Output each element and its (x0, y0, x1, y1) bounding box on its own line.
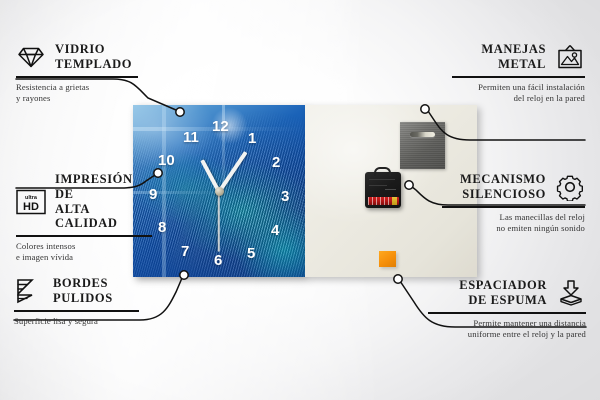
clock-numeral-10: 10 (158, 153, 175, 168)
clock-numeral-6: 6 (214, 253, 222, 268)
callout-rule (442, 206, 585, 208)
foam-spacer (379, 251, 396, 267)
infographic-canvas: 12 1 2 3 4 5 6 7 8 9 10 11 (0, 0, 600, 400)
clock-numeral-12: 12 (212, 119, 229, 134)
callout-vidrio-templado[interactable]: VIDRIO TEMPLADO Resistencia a grietas y … (16, 42, 138, 105)
ultra-hd-icon-main: HD (23, 201, 39, 213)
metal-hanger-plate (400, 122, 445, 169)
callout-rule (14, 310, 139, 312)
callout-description: Las manecillas del reloj no emiten ningú… (442, 212, 585, 235)
callout-rule (428, 312, 586, 314)
callout-manejas-metal[interactable]: MANEJAS METAL Permiten una fácil instala… (452, 42, 585, 105)
callout-title-line2: PULIDOS (53, 291, 113, 305)
clock-numeral-4: 4 (271, 223, 279, 238)
product-clock-front: 12 1 2 3 4 5 6 7 8 9 10 11 (133, 105, 305, 277)
polished-edges-icon (14, 276, 44, 306)
callout-title-line1: VIDRIO (55, 42, 105, 56)
callout-mecanismo-silencioso[interactable]: MECANISMO SILENCIOSO Las manecillas del … (442, 172, 585, 235)
hanger-keyhole-slot (410, 132, 435, 137)
mechanism-detail-line-3 (385, 189, 396, 190)
clock-numeral-5: 5 (247, 246, 255, 261)
mechanism-hanging-loop (374, 167, 391, 176)
callout-title-line2: ALTA CALIDAD (55, 202, 118, 231)
callout-desc-line2: y rayones (16, 93, 51, 103)
gear-icon (555, 172, 585, 202)
callout-head: MANEJAS METAL (452, 42, 585, 72)
callout-title-line1: BORDES (53, 276, 108, 290)
callout-title-line1: IMPRESIÓN DE (55, 172, 133, 201)
mechanism-detail-line-2 (369, 185, 387, 186)
clock-numeral-7: 7 (181, 244, 189, 259)
clock-numeral-1: 1 (248, 131, 256, 146)
battery-terminal (392, 197, 397, 205)
callout-description: Resistencia a grietas y rayones (16, 82, 138, 105)
callout-head: ultra HD IMPRESIÓN DE ALTA CALIDAD (16, 172, 152, 231)
callout-title-line1: MECANISMO (460, 172, 546, 186)
callout-desc-line2: no emiten ningún sonido (496, 223, 585, 233)
callout-head: MECANISMO SILENCIOSO (442, 172, 585, 202)
callout-desc-line1: Superficie lisa y segura (14, 316, 98, 326)
callout-title-line2: METAL (498, 57, 546, 71)
callout-desc-line1: Las manecillas del reloj (500, 212, 585, 222)
callout-impresion-alta-calidad[interactable]: ultra HD IMPRESIÓN DE ALTA CALIDAD Color… (16, 172, 152, 264)
clock-numeral-11: 11 (183, 130, 199, 145)
callout-desc-line2: e imagen vívida (16, 252, 73, 262)
callout-description: Permiten una fácil instalación del reloj… (452, 82, 585, 105)
callout-title-line2: DE ESPUMA (468, 293, 547, 307)
callout-title: MANEJAS METAL (481, 42, 546, 72)
foam-spacer-icon (556, 278, 586, 308)
callout-espaciador-espuma[interactable]: ESPACIADOR DE ESPUMA Permite mantener un… (428, 278, 586, 341)
callout-rule (16, 76, 138, 78)
hanging-frame-icon (555, 42, 585, 72)
clock-center-cap (215, 187, 224, 196)
hanger-texture (400, 122, 445, 169)
callout-rule (16, 235, 152, 237)
mechanism-detail-line-1 (369, 179, 395, 180)
clock-second-hand (218, 192, 220, 252)
callout-desc-line1: Permite mantener una distancia (473, 318, 586, 328)
callout-title: IMPRESIÓN DE ALTA CALIDAD (55, 172, 152, 231)
callout-desc-line1: Colores intensos (16, 241, 75, 251)
callout-title: MECANISMO SILENCIOSO (460, 172, 546, 202)
ultra-hd-icon: ultra HD (16, 187, 46, 217)
callout-desc-line2: del reloj en la pared (514, 93, 585, 103)
callout-head: BORDES PULIDOS (14, 276, 139, 306)
callout-bordes-pulidos[interactable]: BORDES PULIDOS Superficie lisa y segura (14, 276, 139, 327)
callout-desc-line2: uniforme entre el reloj y la pared (468, 329, 586, 339)
callout-title-line2: TEMPLADO (55, 57, 132, 71)
callout-description: Permite mantener una distancia uniforme … (428, 318, 586, 341)
diamond-icon (16, 42, 46, 72)
callout-title-line1: ESPACIADOR (459, 278, 547, 292)
callout-desc-line1: Permiten una fácil instalación (478, 82, 585, 92)
callout-description: Superficie lisa y segura (14, 316, 139, 328)
clock-numeral-3: 3 (281, 189, 289, 204)
callout-rule (452, 76, 585, 78)
callout-desc-line1: Resistencia a grietas (16, 82, 89, 92)
clock-numeral-8: 8 (158, 220, 166, 235)
callout-title-line2: SILENCIOSO (462, 187, 546, 201)
callout-head: ESPACIADOR DE ESPUMA (428, 278, 586, 308)
callout-title-line1: MANEJAS (481, 42, 546, 56)
silent-quartz-mechanism (365, 172, 401, 208)
callout-title: BORDES PULIDOS (53, 276, 113, 306)
callout-description: Colores intensos e imagen vívida (16, 241, 152, 264)
callout-title: VIDRIO TEMPLADO (55, 42, 132, 72)
callout-head: VIDRIO TEMPLADO (16, 42, 138, 72)
battery-label (368, 197, 399, 205)
clock-numeral-2: 2 (272, 155, 280, 170)
callout-title: ESPACIADOR DE ESPUMA (459, 278, 547, 308)
